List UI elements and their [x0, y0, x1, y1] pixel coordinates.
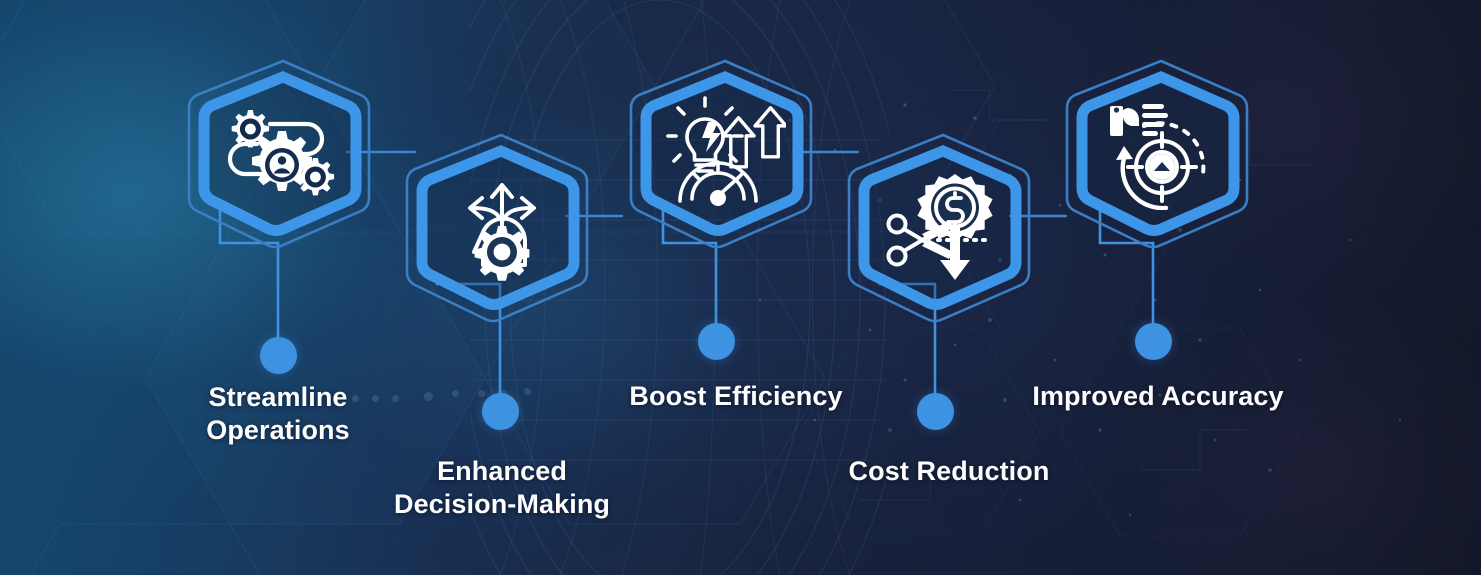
label-improved-accuracy: Improved Accuracy — [1023, 380, 1293, 413]
scissors-dollar-icon — [886, 172, 1001, 284]
label-cost-reduction: Cost Reduction — [823, 455, 1075, 488]
infographic-canvas: Streamline Operations Enhanced Decision-… — [0, 0, 1481, 575]
node-dot-improved-accuracy[interactable] — [1135, 323, 1172, 360]
hex-enhanced-decision-making[interactable] — [404, 130, 598, 324]
gears-workflow-icon — [223, 96, 343, 211]
label-boost-efficiency: Boost Efficiency — [605, 380, 867, 413]
hex-cost-reduction[interactable] — [846, 130, 1040, 324]
hex-streamline-operations[interactable] — [186, 56, 380, 250]
node-dot-streamline-operations[interactable] — [260, 337, 297, 374]
bulb-gauge-arrows-icon — [666, 92, 786, 210]
label-streamline-operations: Streamline Operations — [148, 381, 408, 447]
hex-improved-accuracy[interactable] — [1064, 56, 1258, 250]
node-dot-cost-reduction[interactable] — [917, 393, 954, 430]
thumbs-target-icon — [1104, 98, 1219, 210]
node-dot-enhanced-decision-making[interactable] — [482, 393, 519, 430]
head-gear-arrows-icon — [452, 168, 552, 283]
node-dot-boost-efficiency[interactable] — [698, 323, 735, 360]
hex-boost-efficiency[interactable] — [628, 56, 822, 250]
label-enhanced-decision-making: Enhanced Decision-Making — [352, 455, 652, 521]
